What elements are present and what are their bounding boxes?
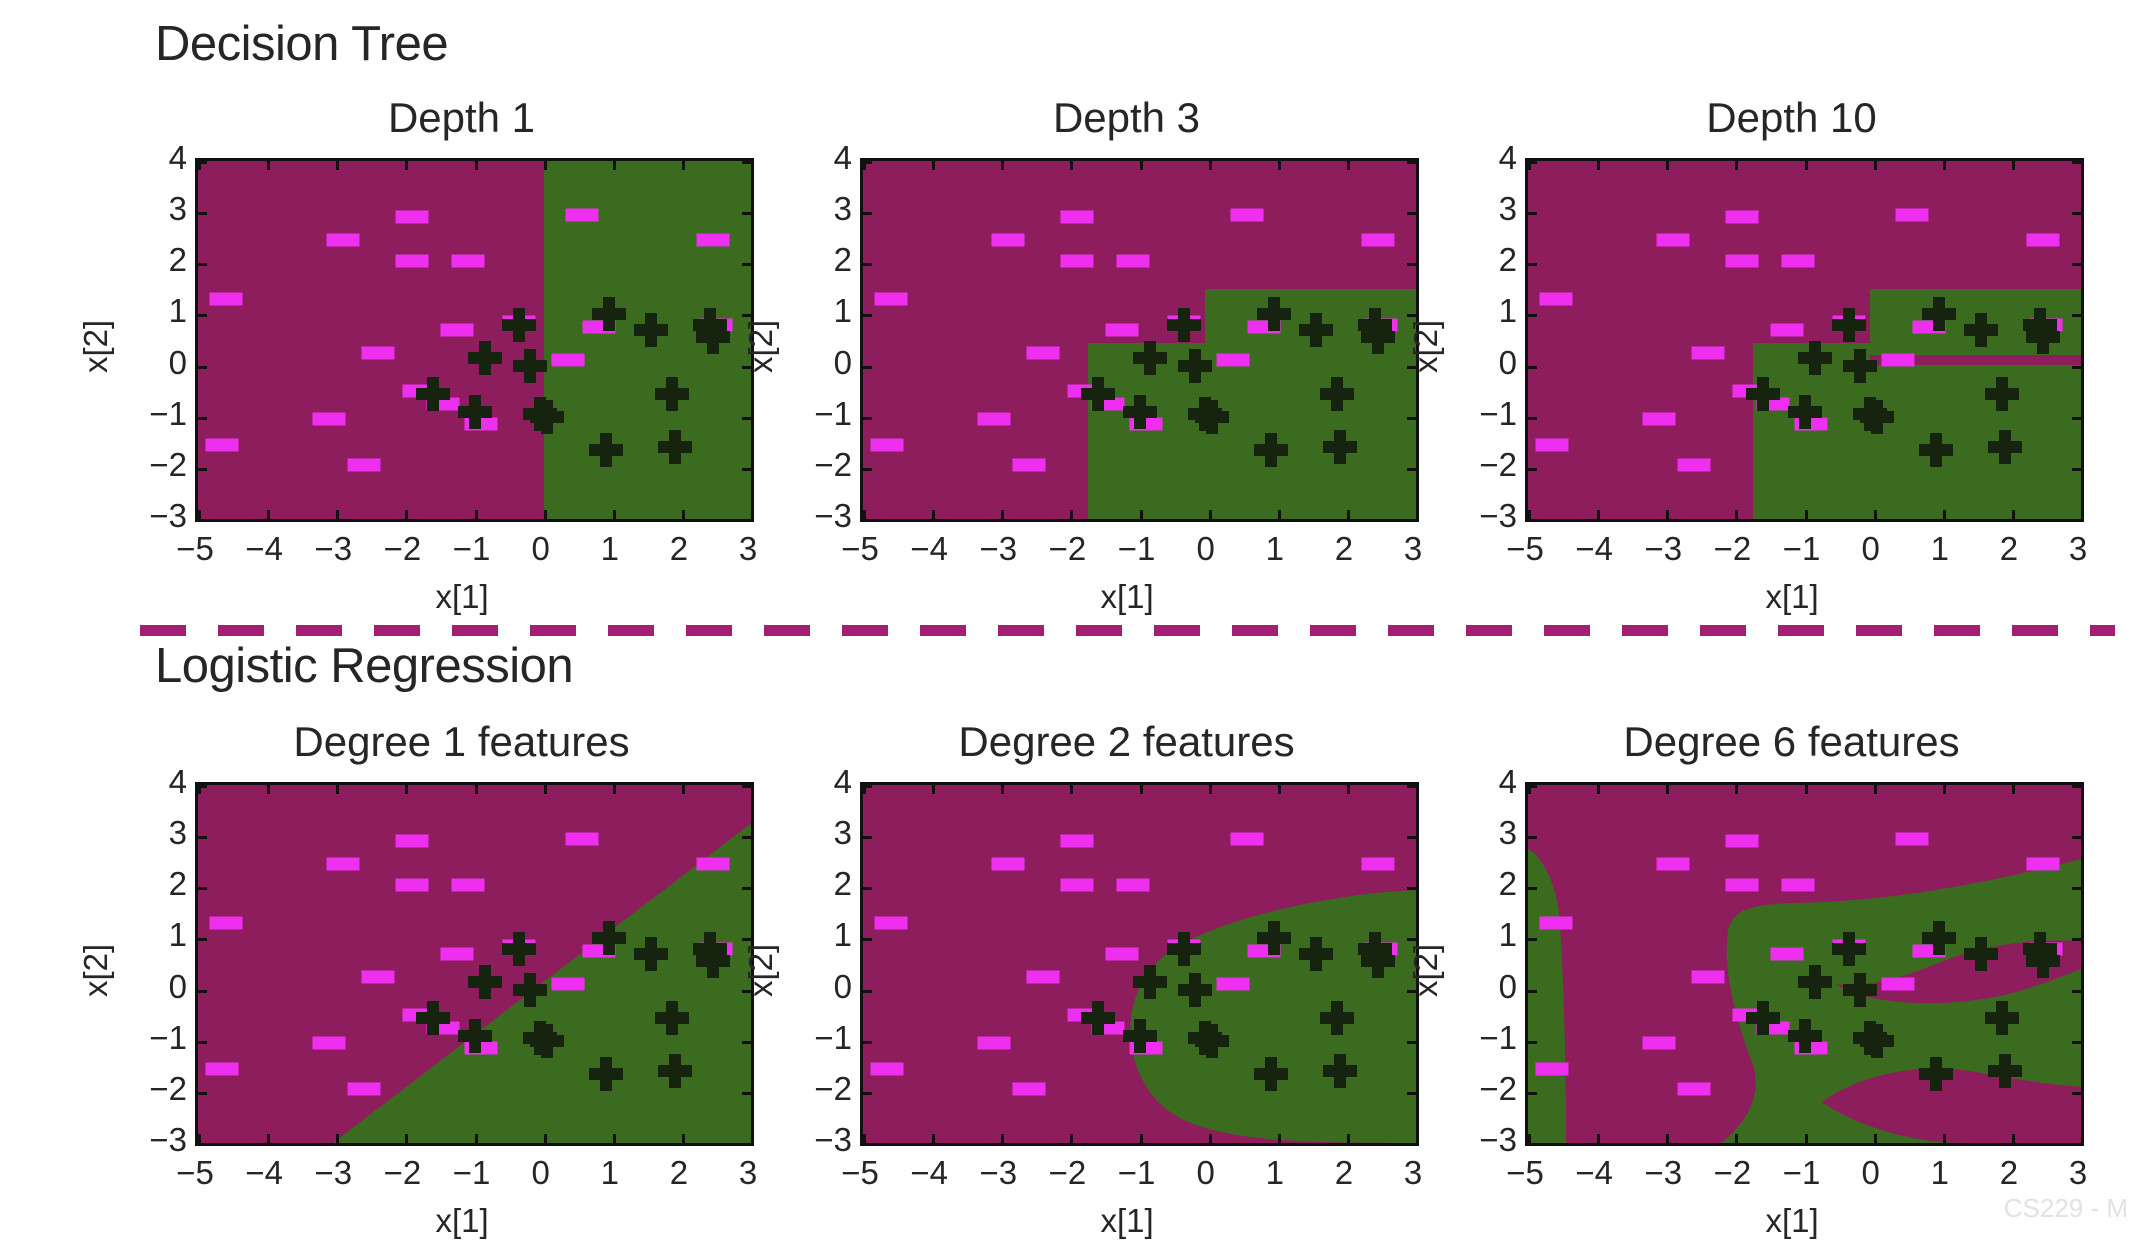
marker-dash — [1230, 832, 1263, 845]
marker-plus — [589, 433, 623, 467]
x-tick-top — [267, 161, 270, 170]
x-tick-label: −5 — [1506, 1154, 1544, 1192]
y-tick-right — [2072, 1143, 2081, 1146]
x-tick — [198, 1134, 201, 1143]
y-tick — [1528, 887, 1537, 890]
x-tick — [405, 510, 408, 519]
x-tick-label: −5 — [176, 530, 214, 568]
y-tick — [1528, 417, 1537, 420]
marker-dash — [696, 234, 729, 247]
y-tick-label: 4 — [137, 139, 187, 177]
marker-plus — [1133, 965, 1167, 999]
marker-plus — [1178, 349, 1212, 383]
y-tick-label: 4 — [802, 763, 852, 801]
marker-dash — [441, 323, 474, 336]
marker-plus — [1798, 965, 1832, 999]
marker-dash — [313, 413, 346, 426]
section-divider — [140, 625, 2115, 636]
marker-plus — [634, 937, 668, 971]
y-tick — [1528, 1143, 1537, 1146]
x-tick-top — [1070, 161, 1073, 170]
x-tick-top — [1416, 161, 1419, 170]
y-tick-label: 4 — [137, 763, 187, 801]
y-tick-right — [742, 519, 751, 522]
y-tick — [198, 468, 207, 471]
marker-plus — [1922, 297, 1956, 331]
x-tick — [1943, 510, 1946, 519]
x-tick-top — [2081, 161, 2084, 170]
y-tick-label: −1 — [137, 395, 187, 433]
marker-dash — [1216, 354, 1249, 367]
marker-dash — [206, 438, 239, 451]
marker-dash — [1643, 413, 1676, 426]
marker-dash — [361, 346, 394, 359]
y-tick-right — [1407, 1092, 1416, 1095]
y-tick-label: −1 — [137, 1019, 187, 1057]
x-tick-label: −1 — [453, 530, 491, 568]
marker-plus — [468, 341, 502, 375]
x-tick-label: −2 — [1714, 1154, 1752, 1192]
marker-plus — [2026, 320, 2060, 354]
marker-dash — [871, 438, 904, 451]
x-tick-label: 3 — [739, 1154, 757, 1192]
y-tick — [863, 1092, 872, 1095]
x-tick-top — [1070, 785, 1073, 794]
x-tick-label: −1 — [1118, 1154, 1156, 1192]
x-tick-top — [751, 785, 754, 794]
y-tick-right — [742, 468, 751, 471]
y-tick-label: 3 — [1467, 190, 1517, 228]
x-tick — [267, 1134, 270, 1143]
marker-plus — [1988, 1054, 2022, 1088]
marker-plus — [655, 377, 689, 411]
marker-plus — [592, 297, 626, 331]
y-tick-label: −1 — [802, 1019, 852, 1057]
marker-dash — [1643, 1037, 1676, 1050]
x-tick-label: −1 — [1118, 530, 1156, 568]
marker-plus — [1964, 313, 1998, 347]
marker-plus — [1123, 1019, 1157, 1053]
y-tick-label: −3 — [802, 497, 852, 535]
y-tick-right — [1407, 887, 1416, 890]
y-tick — [863, 417, 872, 420]
y-tick — [198, 212, 207, 215]
y-tick-right — [1407, 161, 1416, 164]
y-tick-label: −2 — [802, 1070, 852, 1108]
y-tick-right — [2072, 519, 2081, 522]
x-tick-top — [1001, 161, 1004, 170]
marker-plus — [1746, 377, 1780, 411]
marker-plus — [1843, 349, 1877, 383]
y-tick-label: 1 — [1467, 916, 1517, 954]
x-tick-top — [336, 161, 339, 170]
x-tick — [1874, 1134, 1877, 1143]
marker-dash — [874, 293, 907, 306]
marker-dash — [1691, 970, 1724, 983]
x-tick-label: 1 — [601, 1154, 619, 1192]
marker-dash — [1881, 978, 1914, 991]
x-tick — [1805, 1134, 1808, 1143]
marker-dash — [1691, 346, 1724, 359]
marker-plus — [1860, 400, 1894, 434]
x-tick-label: 1 — [1931, 530, 1949, 568]
marker-plus — [634, 313, 668, 347]
x-tick — [1416, 510, 1419, 519]
x-tick-top — [2012, 785, 2015, 794]
marker-dash — [441, 947, 474, 960]
x-tick-top — [751, 161, 754, 170]
x-tick-top — [1805, 161, 1808, 170]
marker-plus — [1746, 1001, 1780, 1035]
y-tick-label: 1 — [802, 916, 852, 954]
marker-dash — [1677, 459, 1710, 472]
y-tick — [863, 1143, 872, 1146]
marker-dash — [696, 858, 729, 871]
ylabel: x[2] — [77, 320, 115, 373]
y-tick-label: −3 — [137, 497, 187, 535]
marker-dash — [1657, 234, 1690, 247]
marker-dash — [209, 917, 242, 930]
marker-dash — [978, 1037, 1011, 1050]
x-tick-label: 0 — [1861, 1154, 1879, 1192]
marker-plus — [416, 1001, 450, 1035]
marker-dash — [1895, 208, 1928, 221]
axes-degree-6 — [1525, 782, 2084, 1146]
ylabel: x[2] — [742, 944, 780, 997]
x-tick — [405, 1134, 408, 1143]
marker-plus — [458, 1019, 492, 1053]
marker-dash — [396, 878, 429, 891]
y-tick-label: 0 — [802, 344, 852, 382]
marker-dash — [992, 858, 1025, 871]
x-tick — [1209, 510, 1212, 519]
marker-plus — [1985, 1001, 2019, 1035]
panel-title-depth-10: Depth 10 — [1515, 94, 2068, 142]
x-tick-label: 3 — [1404, 1154, 1422, 1192]
marker-dash — [551, 354, 584, 367]
y-tick-right — [2072, 417, 2081, 420]
marker-plus — [2026, 944, 2060, 978]
marker-plus — [589, 1057, 623, 1091]
marker-dash — [1026, 970, 1059, 983]
y-tick-label: 2 — [137, 865, 187, 903]
x-tick — [1805, 510, 1808, 519]
y-tick — [1528, 366, 1537, 369]
marker-dash — [1536, 438, 1569, 451]
y-tick — [1528, 1041, 1537, 1044]
marker-dash — [2026, 234, 2059, 247]
y-tick-label: −3 — [1467, 1121, 1517, 1159]
x-tick — [267, 510, 270, 519]
x-tick-label: −5 — [841, 1154, 879, 1192]
x-tick-label: 0 — [1196, 1154, 1214, 1192]
y-tick-label: 0 — [1467, 968, 1517, 1006]
marker-plus — [1323, 430, 1357, 464]
x-tick-top — [544, 161, 547, 170]
marker-plus — [592, 921, 626, 955]
xlabel: x[1] — [1101, 1202, 1154, 1240]
marker-plus — [458, 395, 492, 429]
marker-dash — [1781, 878, 1814, 891]
y-tick-label: −3 — [802, 1121, 852, 1159]
marker-plus — [658, 430, 692, 464]
xlabel: x[1] — [1766, 1202, 1819, 1240]
y-tick — [863, 468, 872, 471]
y-tick-right — [742, 417, 751, 420]
x-tick-top — [1278, 785, 1281, 794]
x-tick-label: −2 — [384, 530, 422, 568]
marker-dash — [1116, 254, 1149, 267]
x-tick-top — [1874, 161, 1877, 170]
marker-dash — [313, 1037, 346, 1050]
x-tick — [932, 1134, 935, 1143]
x-tick-top — [1209, 785, 1212, 794]
watermark: CS229 - M — [2004, 1193, 2128, 1224]
y-tick — [1528, 314, 1537, 317]
y-tick — [863, 1041, 872, 1044]
x-tick — [1528, 1134, 1531, 1143]
x-tick-label: −5 — [1506, 530, 1544, 568]
marker-plus — [468, 965, 502, 999]
y-tick — [198, 1041, 207, 1044]
x-tick — [2081, 1134, 2084, 1143]
x-tick-label: 1 — [601, 530, 619, 568]
x-tick-top — [2081, 785, 2084, 794]
x-tick — [475, 1134, 478, 1143]
marker-plus — [1123, 395, 1157, 429]
y-tick — [863, 887, 872, 890]
y-tick — [198, 314, 207, 317]
y-tick-label: 1 — [802, 292, 852, 330]
y-tick — [198, 1092, 207, 1095]
marker-dash — [1726, 254, 1759, 267]
x-tick — [198, 510, 201, 519]
marker-dash — [1657, 858, 1690, 871]
y-tick — [863, 314, 872, 317]
x-tick — [751, 510, 754, 519]
x-tick-top — [932, 161, 935, 170]
panel-title-depth-1: Depth 1 — [185, 94, 738, 142]
marker-dash — [361, 970, 394, 983]
x-tick — [544, 510, 547, 519]
x-tick-label: 2 — [1335, 1154, 1353, 1192]
y-tick — [863, 990, 872, 993]
marker-plus — [1922, 921, 1956, 955]
xlabel: x[1] — [436, 578, 489, 616]
x-tick-label: −3 — [979, 530, 1017, 568]
x-tick — [863, 1134, 866, 1143]
y-tick-right — [2072, 468, 2081, 471]
y-tick — [1528, 938, 1537, 941]
x-tick-label: −3 — [314, 530, 352, 568]
y-tick-right — [742, 887, 751, 890]
y-tick-label: 2 — [1467, 865, 1517, 903]
x-tick-label: 2 — [2000, 530, 2018, 568]
axes-degree-1 — [195, 782, 754, 1146]
y-tick-label: 0 — [137, 968, 187, 1006]
x-tick — [613, 510, 616, 519]
y-tick-right — [1407, 468, 1416, 471]
x-tick — [863, 510, 866, 519]
y-tick — [198, 161, 207, 164]
x-tick — [1597, 1134, 1600, 1143]
x-tick-top — [1347, 785, 1350, 794]
y-tick-label: 2 — [137, 241, 187, 279]
x-tick — [1528, 510, 1531, 519]
marker-dash — [1726, 211, 1759, 224]
marker-dash — [1881, 354, 1914, 367]
marker-dash — [1061, 254, 1094, 267]
marker-plus — [1167, 308, 1201, 342]
marker-plus — [1788, 1019, 1822, 1053]
x-tick-top — [1805, 785, 1808, 794]
marker-plus — [1299, 313, 1333, 347]
x-tick — [336, 1134, 339, 1143]
x-tick-top — [1597, 161, 1600, 170]
x-tick-label: 3 — [1404, 530, 1422, 568]
x-tick — [1140, 510, 1143, 519]
y-tick — [1528, 785, 1537, 788]
marker-dash — [551, 978, 584, 991]
marker-plus — [502, 932, 536, 966]
x-tick — [2012, 510, 2015, 519]
marker-plus — [1178, 973, 1212, 1007]
marker-plus — [1985, 377, 2019, 411]
x-tick-top — [1943, 785, 1946, 794]
y-tick — [1528, 161, 1537, 164]
x-tick-top — [267, 785, 270, 794]
x-tick-top — [1140, 785, 1143, 794]
x-tick — [682, 1134, 685, 1143]
y-tick-label: −2 — [802, 446, 852, 484]
y-tick — [1528, 836, 1537, 839]
marker-dash — [347, 459, 380, 472]
y-tick-label: 3 — [137, 814, 187, 852]
x-tick-top — [613, 785, 616, 794]
ylabel: x[2] — [742, 320, 780, 373]
y-tick-label: 4 — [1467, 763, 1517, 801]
x-tick-top — [405, 785, 408, 794]
x-tick-label: −5 — [176, 1154, 214, 1192]
x-tick-label: 3 — [2069, 1154, 2087, 1192]
y-tick-label: 0 — [802, 968, 852, 1006]
marker-dash — [1216, 978, 1249, 991]
x-tick — [1278, 510, 1281, 519]
y-tick-right — [2072, 1092, 2081, 1095]
y-tick — [863, 366, 872, 369]
y-tick — [1528, 1092, 1537, 1095]
marker-plus — [1964, 937, 1998, 971]
x-tick-label: 0 — [1861, 530, 1879, 568]
x-tick — [1070, 510, 1073, 519]
marker-plus — [1832, 932, 1866, 966]
marker-dash — [327, 234, 360, 247]
x-tick-top — [1209, 161, 1212, 170]
y-tick — [198, 366, 207, 369]
x-tick — [1001, 1134, 1004, 1143]
x-tick-top — [475, 785, 478, 794]
y-tick — [198, 417, 207, 420]
y-tick-label: −2 — [137, 446, 187, 484]
x-tick — [1278, 1134, 1281, 1143]
y-tick-right — [742, 1041, 751, 1044]
x-tick-top — [1140, 161, 1143, 170]
x-tick — [682, 510, 685, 519]
marker-dash — [1361, 234, 1394, 247]
y-tick — [1528, 519, 1537, 522]
marker-dash — [1061, 211, 1094, 224]
y-tick — [863, 938, 872, 941]
marker-dash — [874, 917, 907, 930]
x-tick — [932, 510, 935, 519]
x-tick — [1735, 1134, 1738, 1143]
y-tick — [1528, 263, 1537, 266]
x-tick-label: −2 — [384, 1154, 422, 1192]
y-tick-right — [742, 836, 751, 839]
marker-dash — [451, 878, 484, 891]
y-tick-right — [1407, 836, 1416, 839]
marker-dash — [871, 1062, 904, 1075]
marker-dash — [396, 254, 429, 267]
ylabel: x[2] — [1407, 320, 1445, 373]
marker-plus — [1843, 973, 1877, 1007]
green-left-block — [1753, 343, 1784, 519]
marker-plus — [1257, 921, 1291, 955]
y-tick-right — [742, 212, 751, 215]
x-tick-label: −2 — [1049, 1154, 1087, 1192]
y-tick-right — [1407, 263, 1416, 266]
y-tick-right — [2072, 314, 2081, 317]
y-tick — [198, 519, 207, 522]
x-tick-top — [1347, 161, 1350, 170]
x-tick — [1347, 1134, 1350, 1143]
y-tick-label: 1 — [137, 292, 187, 330]
y-tick-right — [2072, 161, 2081, 164]
y-tick-right — [2072, 1041, 2081, 1044]
ylabel: x[2] — [77, 944, 115, 997]
y-tick — [863, 263, 872, 266]
y-tick-label: −2 — [1467, 446, 1517, 484]
marker-plus — [696, 320, 730, 354]
marker-dash — [396, 835, 429, 848]
y-tick-right — [1407, 314, 1416, 317]
y-tick — [863, 836, 872, 839]
x-tick — [1874, 510, 1877, 519]
y-tick — [1528, 468, 1537, 471]
marker-plus — [1133, 341, 1167, 375]
y-tick-label: −1 — [1467, 395, 1517, 433]
y-tick-right — [742, 161, 751, 164]
y-tick-right — [1407, 519, 1416, 522]
y-tick-label: 1 — [1467, 292, 1517, 330]
y-tick-right — [742, 1092, 751, 1095]
x-tick — [751, 1134, 754, 1143]
marker-plus — [1167, 932, 1201, 966]
x-tick-top — [932, 785, 935, 794]
marker-dash — [451, 254, 484, 267]
x-tick-label: 1 — [1266, 1154, 1284, 1192]
x-tick-top — [682, 161, 685, 170]
x-tick-label: −4 — [245, 530, 283, 568]
y-tick-label: 4 — [1467, 139, 1517, 177]
y-tick — [863, 785, 872, 788]
marker-plus — [1323, 1054, 1357, 1088]
y-tick-right — [742, 314, 751, 317]
x-tick — [1735, 510, 1738, 519]
marker-dash — [1061, 878, 1094, 891]
y-tick-right — [742, 938, 751, 941]
y-tick-label: −2 — [137, 1070, 187, 1108]
